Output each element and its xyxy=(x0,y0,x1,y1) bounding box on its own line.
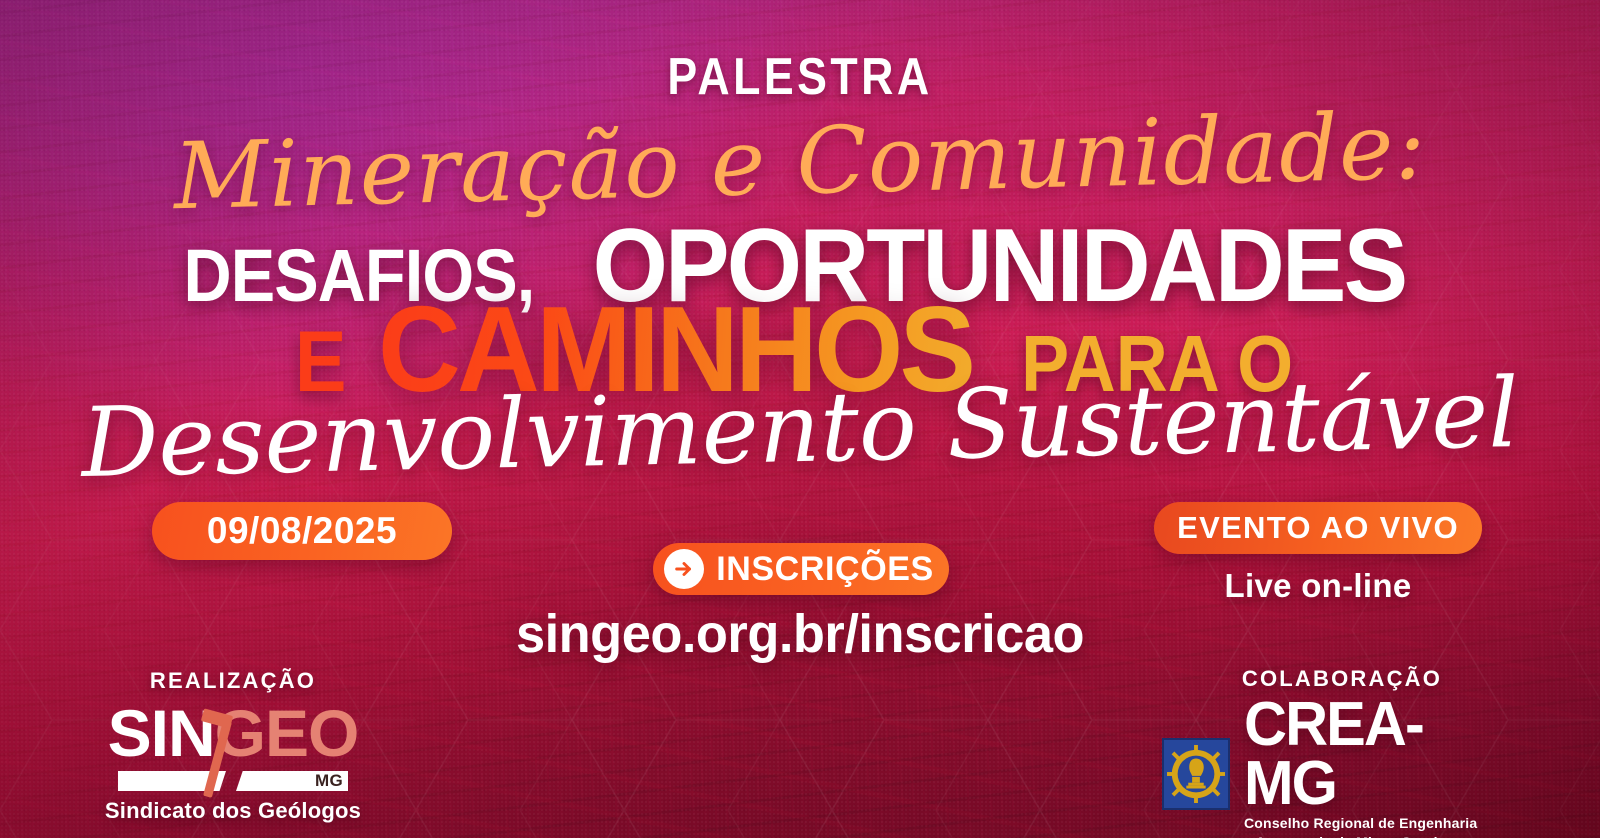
singeo-state-badge: MG xyxy=(315,771,348,791)
realizacao-label: REALIZAÇÃO xyxy=(68,668,398,694)
arrow-right-circle-icon xyxy=(664,549,704,589)
colaboracao-label: COLABORAÇÃO xyxy=(1162,666,1522,692)
banner-content: PALESTRA Mineração e Comunidade: DESAFIO… xyxy=(0,0,1600,838)
inscricoes-button-label: INSCRIÇÕES xyxy=(716,550,944,589)
live-event-subtitle: Live on-line xyxy=(1154,567,1482,605)
realizacao-block: REALIZAÇÃO SINGEO MG Sindicato dos Geólo… xyxy=(68,668,398,824)
crea-subtitle: Conselho Regional de Engenharia e Agrono… xyxy=(1244,815,1477,838)
registration-url[interactable]: singeo.org.br/inscricao xyxy=(24,603,1576,665)
singeo-subtitle: Sindicato dos Geólogos xyxy=(68,798,398,824)
singeo-logo-geo: GEO xyxy=(215,696,359,770)
crea-wordmark: CREA-MG xyxy=(1244,696,1511,814)
event-date-badge: 09/08/2025 xyxy=(152,502,452,560)
crea-logo: CREA-MG Conselho Regional de Engenharia … xyxy=(1162,696,1522,838)
event-promo-banner: PALESTRA Mineração e Comunidade: DESAFIO… xyxy=(0,0,1600,838)
inscricoes-button[interactable]: INSCRIÇÕES xyxy=(653,543,949,595)
live-event-badge: EVENTO AO VIVO xyxy=(1154,502,1482,554)
event-date-text: 09/08/2025 xyxy=(207,510,397,552)
singeo-bar-right: MG xyxy=(236,771,348,791)
crea-text-block: CREA-MG Conselho Regional de Engenharia … xyxy=(1244,696,1522,838)
singeo-logo-bars: MG xyxy=(118,768,348,794)
live-event-badge-label: EVENTO AO VIVO xyxy=(1177,510,1459,546)
crea-shield-gear-bust-icon xyxy=(1162,738,1230,810)
singeo-logo-sin: SIN xyxy=(108,696,215,770)
crea-subtitle-line2: e Agronomia de Minas Gerais xyxy=(1244,834,1446,838)
colaboracao-block: COLABORAÇÃO xyxy=(1162,666,1522,838)
singeo-logo-wordmark: SINGEO xyxy=(108,700,359,766)
